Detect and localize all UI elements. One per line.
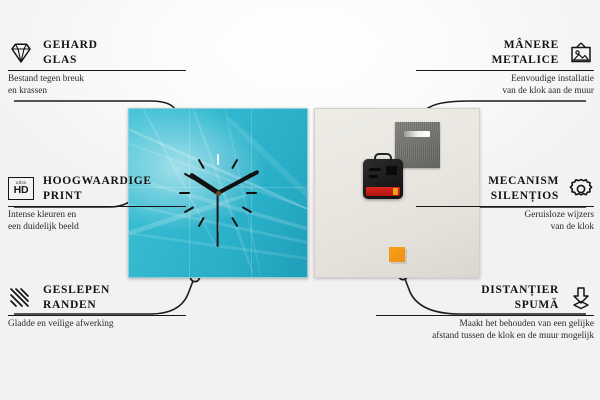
callout-divider (8, 315, 186, 316)
callout-header: MECANISMSILENȚIOS (416, 174, 594, 203)
callout-divider (416, 206, 594, 207)
callout-divider (8, 70, 186, 71)
callout-hoogwaardige-print[interactable]: ultra HD HOOGWAARDIGEPRINT Intense kleur… (8, 174, 186, 233)
diagonal-lines-icon (8, 286, 34, 310)
foam-spacer-part (389, 247, 405, 262)
callout-header: GEHARDGLAS (8, 38, 186, 67)
callout-mecanism-silentios[interactable]: MECANISMSILENȚIOS Geruisloze wijzersvan … (416, 174, 594, 233)
hd-icon-large-text: HD (14, 185, 29, 196)
clock-mechanism-part (363, 159, 403, 199)
callout-header: MÂNEREMETALICE (416, 38, 594, 67)
callout-description: Geruisloze wijzersvan de klok (416, 210, 594, 233)
callout-distantier-spuma[interactable]: DISTANȚIERSPUMĂ Maakt het behouden van e… (376, 283, 594, 342)
gear-icon (568, 177, 594, 201)
callout-title: GESLEPENRANDEN (43, 283, 110, 312)
wall-frame-icon (568, 41, 594, 65)
callout-title: MECANISMSILENȚIOS (488, 174, 559, 203)
callout-title: DISTANȚIERSPUMĂ (481, 283, 559, 312)
battery-part (366, 187, 400, 196)
callout-manere-metalice[interactable]: MÂNEREMETALICE Eenvoudige installatievan… (416, 38, 594, 97)
mechanism-vent-1 (369, 168, 381, 171)
callout-title: MÂNEREMETALICE (492, 38, 559, 67)
callout-header: GESLEPENRANDEN (8, 283, 186, 312)
mechanism-vent-2 (369, 175, 378, 178)
infographic-canvas: GEHARDGLAS Bestand tegen breuken krassen… (0, 0, 600, 400)
callout-description: Maakt het behouden van een gelijkeafstan… (376, 319, 594, 342)
callout-title: GEHARDGLAS (43, 38, 98, 67)
callout-geslepen-randen[interactable]: GESLEPENRANDEN Gladde en veilige afwerki… (8, 283, 186, 331)
callout-header: DISTANȚIERSPUMĂ (376, 283, 594, 312)
mechanism-vent-3 (386, 166, 397, 175)
callout-description: Eenvoudige installatievan de klok aan de… (416, 74, 594, 97)
callout-title: HOOGWAARDIGEPRINT (43, 174, 152, 203)
callout-divider (416, 70, 594, 71)
callout-description: Gladde en veilige afwerking (8, 319, 186, 331)
ultra-hd-icon: ultra HD (8, 177, 34, 201)
callout-divider (376, 315, 594, 316)
callout-description: Intense kleuren eneen duidelijk beeld (8, 210, 186, 233)
clock-center-pin (216, 191, 221, 196)
second-hand (217, 193, 219, 247)
hanger-slot (404, 131, 430, 137)
down-arrow-stack-icon (568, 286, 594, 310)
callout-description: Bestand tegen breuken krassen (8, 74, 186, 97)
mechanism-hook (374, 153, 392, 162)
diamond-icon (8, 41, 34, 65)
callout-gehard-glas[interactable]: GEHARDGLAS Bestand tegen breuken krassen (8, 38, 186, 97)
callout-divider (8, 206, 186, 207)
callout-header: ultra HD HOOGWAARDIGEPRINT (8, 174, 186, 203)
